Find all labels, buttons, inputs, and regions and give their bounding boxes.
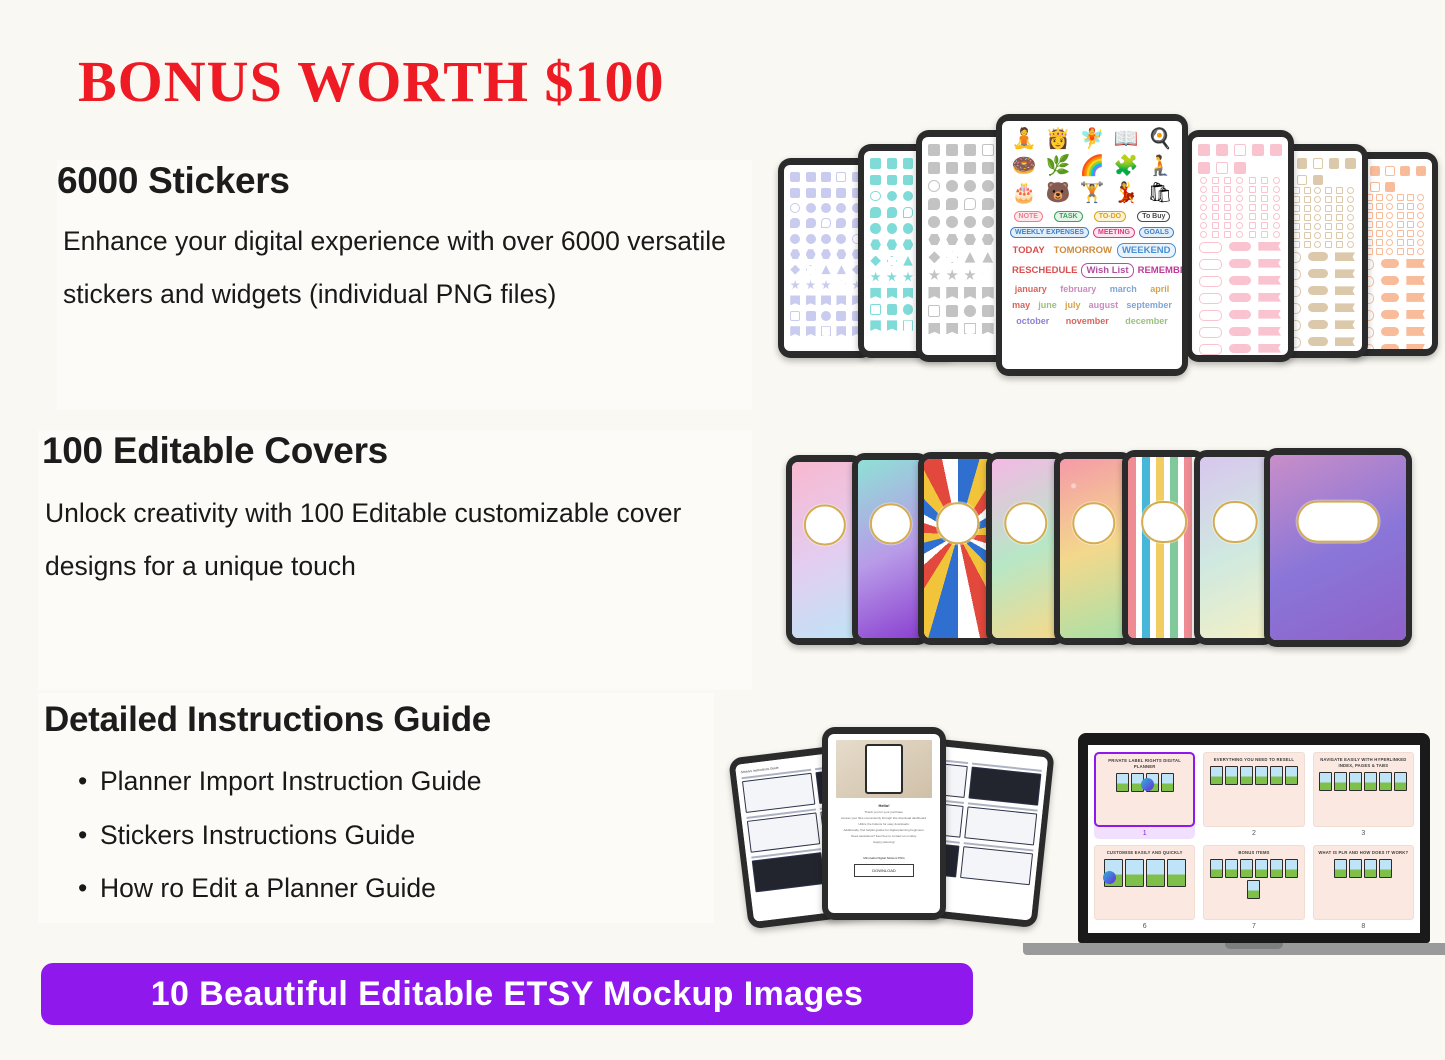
- sticker-icon: [1407, 221, 1414, 228]
- sticker-icon: [1314, 241, 1321, 248]
- guide-bullet-list: •Planner Import Instruction Guide •Stick…: [78, 755, 482, 916]
- guide-step-screenshot: [742, 773, 815, 813]
- sticker-cell: [945, 161, 960, 176]
- word-sticker-row: RESCHEDULEWish ListREMEMBER!: [1008, 263, 1176, 278]
- illustration-sticker: 🌈: [1076, 154, 1108, 179]
- sticker-icon: [1236, 177, 1243, 184]
- label-sticker: [1229, 344, 1252, 353]
- etsy-mockup-banner[interactable]: 10 Beautiful Editable ETSY Mockup Images: [41, 963, 973, 1025]
- label-sticker: [1199, 259, 1222, 270]
- month-sticker: june: [1038, 300, 1057, 310]
- slide-artwork: [1207, 766, 1300, 785]
- sticker-cell: [885, 303, 898, 316]
- page-title: BONUS WORTH $100: [78, 48, 665, 115]
- laptop-notch: [1225, 943, 1283, 949]
- slide-preview-tile: [1334, 859, 1347, 878]
- sticker-icon: [1200, 213, 1207, 220]
- sticker-cell: [901, 157, 914, 170]
- sticker-icon: [1304, 196, 1311, 203]
- illustration-sticker: 🧘: [1008, 127, 1040, 152]
- laptop-lid: PRIVATE LABEL RIGHTS DIGITAL PLANNER1EVE…: [1078, 733, 1430, 943]
- sticker-cell: [901, 173, 914, 186]
- label-sticker: [1406, 276, 1425, 285]
- month-sticker: november: [1066, 316, 1109, 326]
- label-sticker: [1229, 259, 1252, 268]
- sticker-cell: [1311, 157, 1324, 170]
- slide-preview-tile: [1210, 766, 1223, 785]
- sticker-cell: [885, 287, 898, 300]
- slide-canvas: EVERYTHING YOU NEED TO RESELL: [1203, 752, 1304, 827]
- sticker-icon: [1304, 214, 1311, 221]
- sticker-cell: [980, 250, 995, 265]
- slide-preview-tile: [1349, 859, 1362, 878]
- word-sticker: WEEKLY EXPENSES: [1010, 227, 1089, 238]
- slide-preview-tile: [1364, 859, 1377, 878]
- sticker-icon: [1376, 194, 1383, 201]
- word-sticker-row: TODAYTOMORROWWEEKEND: [1008, 243, 1176, 258]
- sticker-cell: [789, 279, 801, 291]
- sticker-icon: [1347, 232, 1354, 239]
- sticker-cell: [820, 233, 832, 245]
- sticker-cell: [963, 268, 978, 283]
- illustration-sticker: 🛍: [1144, 181, 1176, 206]
- icon-row: [1197, 194, 1283, 203]
- slide-preview-tile: [1240, 859, 1253, 878]
- sticker-icon: [1224, 222, 1231, 229]
- slide-canvas: WHAT IS PLR AND HOW DOES IT WORK?: [1313, 845, 1414, 920]
- sticker-icon: [1212, 231, 1219, 238]
- illustration-sticker: 🧩: [1110, 154, 1142, 179]
- sticker-cell: [789, 248, 801, 260]
- illustration-sticker: 🎂: [1008, 181, 1040, 206]
- label-sticker: [1335, 252, 1355, 261]
- month-sticker-row: octobernovemberdecember: [1008, 316, 1176, 326]
- dashboard-body-line: Additionally, find helpful guides for di…: [836, 828, 932, 832]
- holographic-cover-screen: [992, 459, 1060, 638]
- sticker-icon: [1304, 205, 1311, 212]
- label-sticker: [1229, 242, 1252, 251]
- sticker-cell: [804, 186, 816, 198]
- sticker-cell: [885, 319, 898, 332]
- slide-number: 3: [1313, 827, 1414, 837]
- sticker-icon: [1304, 187, 1311, 194]
- slide-preview-tile: [1225, 859, 1238, 878]
- slide-thumbnail-2[interactable]: EVERYTHING YOU NEED TO RESELL2: [1203, 752, 1304, 839]
- dashboard-body-line: Need assistance? Feel free to contact us…: [836, 834, 932, 838]
- badge-icon: [1141, 778, 1154, 791]
- sticker-cell: [869, 254, 882, 267]
- sticker-icon: [1212, 213, 1219, 220]
- sticker-cell: [1384, 165, 1396, 177]
- guide-step: [964, 802, 1037, 845]
- sticker-icon: [1273, 177, 1280, 184]
- word-sticker-row: WEEKLY EXPENSESMEETINGGOALS: [1008, 227, 1176, 238]
- month-sticker: october: [1016, 316, 1049, 326]
- sticker-cell: [1197, 161, 1212, 176]
- word-sticker: MEETING: [1093, 227, 1135, 238]
- sticker-icon: [1397, 212, 1404, 219]
- label-sticker: [1381, 293, 1400, 302]
- sticker-cell: [963, 321, 978, 336]
- slide-preview-tile: [1255, 859, 1268, 878]
- icon-row: [1197, 203, 1283, 212]
- sticker-cell: [804, 248, 816, 260]
- sticker-icon: [1249, 231, 1256, 238]
- sticker-cell: [1215, 161, 1230, 176]
- sticker-icon: [1224, 186, 1231, 193]
- sticker-cell: [1295, 157, 1308, 170]
- sticker-cell: [945, 250, 960, 265]
- slide-preview-tile: [1161, 773, 1174, 792]
- sticker-cell: [804, 294, 816, 306]
- sticker-icon: [1261, 177, 1268, 184]
- sticker-cell: [835, 202, 847, 214]
- sticker-icon: [1261, 231, 1268, 238]
- sticker-cell: [901, 287, 914, 300]
- sticker-cell: [927, 161, 942, 176]
- slide-preview-tile: [1270, 859, 1283, 878]
- sticker-cell: [835, 186, 847, 198]
- sticker-cell: [1268, 143, 1283, 158]
- sticker-icon: [1325, 205, 1332, 212]
- guide-step-screenshot: [747, 812, 820, 852]
- section-title-covers: 100 Editable Covers: [42, 430, 388, 472]
- sticker-icon: [1200, 204, 1207, 211]
- label-sticker: [1308, 286, 1328, 295]
- sticker-icon: [1249, 213, 1256, 220]
- coral-mosaic-cover-art: [1060, 459, 1128, 638]
- sticker-cell: [835, 294, 847, 306]
- download-button[interactable]: DOWNLOAD: [854, 864, 914, 877]
- cover-title-plate: [804, 505, 846, 546]
- pastel-watercolor-cover-screen: [792, 462, 858, 638]
- pastel-marble-cover-screen: [1200, 457, 1270, 638]
- sticker-cell: [980, 143, 995, 158]
- sticker-cell: [1368, 165, 1380, 177]
- slide-artwork: [1207, 859, 1300, 899]
- sticker-icon: [1336, 205, 1343, 212]
- section-body-covers: Unlock creativity with 100 Editable cust…: [45, 487, 745, 593]
- sticker-icon: [1249, 195, 1256, 202]
- slide-thumbnail-7[interactable]: BONUS ITEMS7: [1203, 845, 1304, 930]
- slide-preview-tile: [1379, 772, 1392, 791]
- sticker-icon: [1236, 231, 1243, 238]
- list-item: •Stickers Instructions Guide: [78, 809, 482, 863]
- slide-number: 2: [1203, 827, 1304, 837]
- sticker-cell: [820, 186, 832, 198]
- icon-grid: [1197, 143, 1283, 176]
- label-sticker: [1199, 242, 1222, 253]
- sticker-icon: [1200, 195, 1207, 202]
- slide-title: BONUS ITEMS: [1207, 850, 1300, 856]
- sticker-cell: [963, 214, 978, 229]
- sticker-cell: [835, 325, 847, 337]
- label-sticker: [1406, 344, 1425, 349]
- sticker-cell: [927, 196, 942, 211]
- sticker-cell: [980, 286, 995, 301]
- sticker-cell: [901, 206, 914, 219]
- rainbow-stripe-cover-art: [1128, 457, 1200, 638]
- sticker-cell: [927, 143, 942, 158]
- sticker-icon: [1212, 195, 1219, 202]
- list-item: •How ro Edit a Planner Guide: [78, 862, 482, 916]
- sticker-icon: [1200, 231, 1207, 238]
- slide-number: 1: [1094, 827, 1195, 837]
- holographic-cover-art: [992, 459, 1060, 638]
- label-sticker: [1258, 327, 1281, 336]
- download-dashboard-page: Hello!Thank you for your purchase.Access…: [828, 734, 940, 913]
- sticker-sheet: [1192, 137, 1288, 355]
- pastel-marble-cover-art: [1200, 457, 1270, 638]
- sticker-cell: [1233, 143, 1248, 158]
- slide-canvas: NAVIGATE EASILY WITH HYPERLINKED INDEX, …: [1313, 752, 1414, 827]
- month-sticker: december: [1125, 316, 1168, 326]
- sticker-icon: [1417, 230, 1424, 237]
- sticker-cell: [869, 287, 882, 300]
- slide-preview-tile: [1116, 773, 1129, 792]
- sticker-sheet: [784, 165, 868, 351]
- bullet-icon: •: [78, 862, 100, 916]
- word-sticker: TASK: [1054, 211, 1083, 222]
- lavender-sticker-sheet-screen: [784, 165, 868, 351]
- label-sticker: [1258, 293, 1281, 302]
- label-sticker: [1229, 276, 1252, 285]
- label-sticker: [1308, 269, 1328, 278]
- sticker-icon: [1261, 186, 1268, 193]
- sticker-cell: [789, 233, 801, 245]
- sticker-cell: [804, 279, 816, 291]
- label-sticker: [1406, 327, 1425, 336]
- sticker-icon: [1261, 195, 1268, 202]
- sticker-cell: [963, 303, 978, 318]
- sticker-cell: [820, 217, 832, 229]
- sticker-cell: [1384, 180, 1396, 192]
- slide-thumbnail-3[interactable]: NAVIGATE EASILY WITH HYPERLINKED INDEX, …: [1313, 752, 1414, 839]
- sticker-icon: [1407, 230, 1414, 237]
- purple-blue-marble-cover-screen: [1270, 455, 1406, 640]
- slide-preview-tile: [1334, 772, 1347, 791]
- tie-dye-cover-screen: [924, 459, 992, 638]
- sticker-cell: [804, 217, 816, 229]
- label-sticker: [1229, 310, 1252, 319]
- sticker-icon: [1261, 204, 1268, 211]
- label-sticker: [1406, 259, 1425, 268]
- sticker-cell: [1415, 165, 1427, 177]
- icon-row: [1197, 221, 1283, 230]
- month-sticker-row: mayjunejulyaugustseptember: [1008, 300, 1176, 310]
- sticker-icon: [1386, 194, 1393, 201]
- label-sticker: [1258, 276, 1281, 285]
- sticker-cell: [963, 232, 978, 247]
- slide-preview-tile: [1364, 772, 1377, 791]
- label-sticker: [1381, 259, 1400, 268]
- sticker-icon: [1249, 186, 1256, 193]
- sticker-icon: [1397, 203, 1404, 210]
- label-sticker: [1258, 259, 1281, 268]
- slide-canvas: BONUS ITEMS: [1203, 845, 1304, 920]
- sticker-icon: [1314, 214, 1321, 221]
- sticker-icon: [1314, 223, 1321, 230]
- label-sticker: [1335, 286, 1355, 295]
- sticker-icon: [1273, 195, 1280, 202]
- icon-row: [1197, 176, 1283, 185]
- sticker-icon: [1386, 221, 1393, 228]
- sticker-icon: [1325, 214, 1332, 221]
- label-sticker-area: [1197, 239, 1283, 355]
- slide-canvas: CUSTOMISE EASILY AND QUICKLY: [1094, 845, 1195, 920]
- sticker-cell: [869, 270, 882, 283]
- slide-preview-tile: [1167, 859, 1186, 887]
- sticker-icon: [1386, 230, 1393, 237]
- slide-preview-tile: [1125, 859, 1144, 887]
- slide-thumbnail-8[interactable]: WHAT IS PLR AND HOW DOES IT WORK?8: [1313, 845, 1414, 930]
- sticker-cell: [945, 143, 960, 158]
- guide-step: [960, 842, 1033, 885]
- sticker-icon: [1386, 212, 1393, 219]
- slide-preview-tile: [1210, 859, 1223, 878]
- sticker-icon: [1336, 241, 1343, 248]
- sticker-cell: [927, 179, 942, 194]
- slide-thumbnail-6[interactable]: CUSTOMISE EASILY AND QUICKLY6: [1094, 845, 1195, 930]
- slide-number: 8: [1313, 920, 1414, 930]
- sticker-cell: [945, 286, 960, 301]
- sticker-icon: [1236, 195, 1243, 202]
- sticker-cell: [820, 325, 832, 337]
- sticker-cell: [885, 238, 898, 251]
- cover-title-plate: [1004, 503, 1047, 545]
- sticker-icon: [1347, 196, 1354, 203]
- slide-title: PRIVATE LABEL RIGHTS DIGITAL PLANNER: [1099, 758, 1190, 770]
- sticker-icon: [1236, 186, 1243, 193]
- sticker-icon: [1417, 221, 1424, 228]
- label-sticker: [1335, 303, 1355, 312]
- slide-artwork: [1317, 772, 1410, 791]
- sticker-icon: [1314, 205, 1321, 212]
- sticker-cell: [901, 270, 914, 283]
- sticker-cell: [885, 173, 898, 186]
- sticker-icon: [1336, 232, 1343, 239]
- word-sticker: TOMORROW: [1050, 244, 1116, 257]
- guide-step: [741, 769, 815, 813]
- teal-purple-cover-art: [858, 460, 924, 638]
- sticker-cell: [980, 268, 995, 283]
- label-sticker: [1335, 320, 1355, 329]
- slide-preview-tile: [1349, 772, 1362, 791]
- sticker-icon: [1212, 222, 1219, 229]
- sticker-icon: [1336, 196, 1343, 203]
- sticker-icon: [1325, 196, 1332, 203]
- word-sticker: RESCHEDULE: [1008, 264, 1081, 277]
- sticker-icon: [1336, 214, 1343, 221]
- sticker-icon: [1325, 232, 1332, 239]
- label-sticker: [1381, 344, 1400, 349]
- sticker-cell: [885, 254, 898, 267]
- guide-step: [746, 808, 820, 852]
- sticker-icon: [1397, 248, 1404, 255]
- sticker-cell: [820, 171, 832, 183]
- label-sticker: [1308, 337, 1328, 346]
- guide-tablet-center-screen: Hello!Thank you for your purchase.Access…: [828, 734, 940, 913]
- slide-preview-tile: [1379, 859, 1392, 878]
- sticker-icon: [1314, 187, 1321, 194]
- sticker-cell: [820, 310, 832, 322]
- word-sticker: WEEKEND: [1117, 243, 1176, 258]
- sticker-cell: [835, 171, 847, 183]
- slide-thumbnail-1[interactable]: PRIVATE LABEL RIGHTS DIGITAL PLANNER1: [1094, 752, 1195, 839]
- illustration-sticker: 🧎: [1144, 154, 1176, 179]
- sticker-icon: [1304, 241, 1311, 248]
- label-sticker: [1258, 310, 1281, 319]
- sticker-cell: [789, 263, 801, 275]
- sticker-cell: [945, 268, 960, 283]
- slide-artwork: [1317, 859, 1410, 878]
- sticker-cell: [1399, 165, 1411, 177]
- label-sticker: [1406, 293, 1425, 302]
- sticker-cell: [820, 263, 832, 275]
- slide-preview-tile: [1255, 766, 1268, 785]
- dashboard-body-line: Utilize the buttons for easy downloads.: [836, 822, 932, 826]
- purple-blue-marble-cover: [1264, 448, 1412, 647]
- illustration-sticker: 💃: [1110, 181, 1142, 206]
- guide-step-screenshot: [752, 852, 825, 892]
- illustration-sticker: 🐻: [1042, 181, 1074, 206]
- slide-number: 7: [1203, 920, 1304, 930]
- label-sticker: [1308, 303, 1328, 312]
- label-sticker: [1381, 310, 1400, 319]
- sticker-cell: [945, 303, 960, 318]
- sticker-icon: [1249, 222, 1256, 229]
- sticker-cell: [980, 303, 995, 318]
- bullet-icon: •: [78, 755, 100, 809]
- sticker-cell: [869, 222, 882, 235]
- sticker-icon: [1212, 186, 1219, 193]
- sticker-cell: [804, 233, 816, 245]
- sticker-icon: [1347, 214, 1354, 221]
- illustration-sticker: 🏋: [1076, 181, 1108, 206]
- sticker-icon: [1249, 204, 1256, 211]
- sticker-icon: [1304, 223, 1311, 230]
- sticker-icon: [1417, 203, 1424, 210]
- hero-tablet-icon: [865, 744, 903, 794]
- sticker-cell: [945, 232, 960, 247]
- sticker-cell: [835, 279, 847, 291]
- sticker-cell: [901, 303, 914, 316]
- section-body-stickers: Enhance your digital experience with ove…: [63, 215, 753, 321]
- slide-preview-tile: [1270, 766, 1283, 785]
- label-sticker: [1381, 276, 1400, 285]
- sticker-icon: [1200, 222, 1207, 229]
- cover-title-plate: [870, 503, 912, 544]
- label-sticker: [1229, 293, 1252, 302]
- sticker-cell: [980, 179, 995, 194]
- sticker-cell: [901, 238, 914, 251]
- sticker-cell: [885, 222, 898, 235]
- badge-icon: [1103, 871, 1116, 884]
- sticker-cell: [1250, 143, 1265, 158]
- sticker-cell: [980, 214, 995, 229]
- sticker-icon: [1236, 204, 1243, 211]
- illustration-sticker: 🧚: [1076, 127, 1108, 152]
- sticker-cell: [927, 214, 942, 229]
- sticker-cell: [927, 286, 942, 301]
- sticker-cell: [820, 294, 832, 306]
- sticker-icon: [1325, 223, 1332, 230]
- slide-preview-tile: [1319, 772, 1332, 791]
- sticker-cell: [869, 238, 882, 251]
- download-file-label: Minimalist Digital Stickers PNG: [836, 856, 932, 860]
- sticker-icon: [1261, 213, 1268, 220]
- sticker-icon: [1224, 195, 1231, 202]
